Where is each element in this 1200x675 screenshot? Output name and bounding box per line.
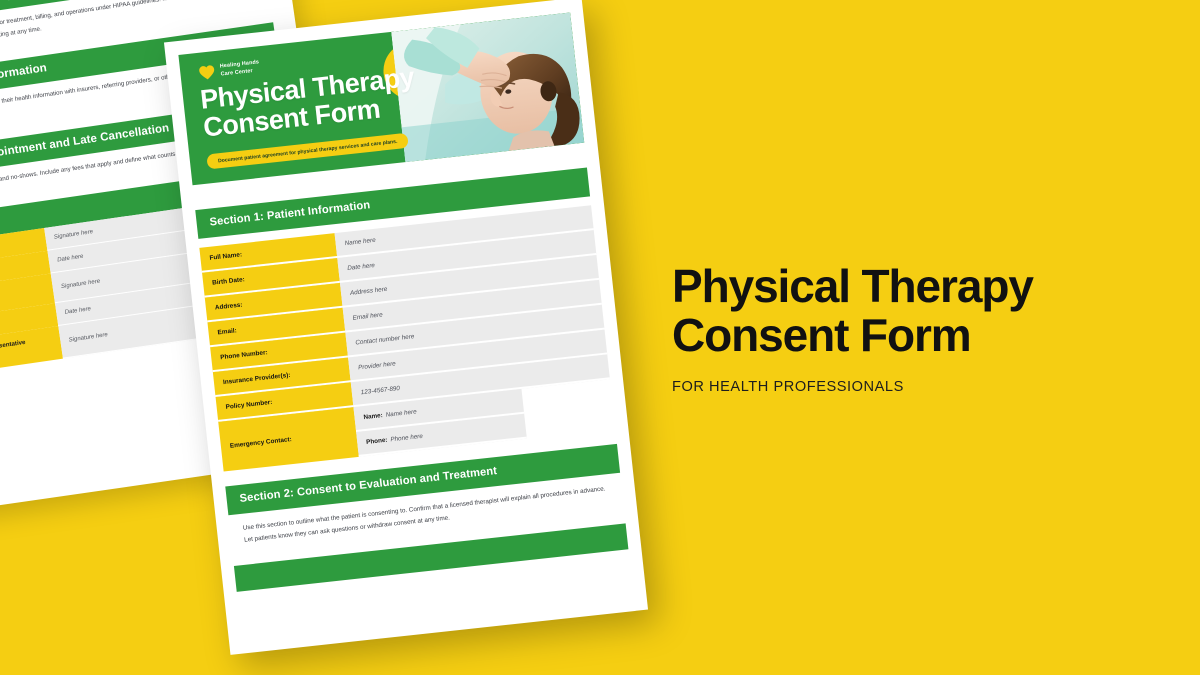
page-title: Physical Therapy Consent Form xyxy=(672,262,1142,360)
hero-photo xyxy=(391,12,584,162)
emergency-phone-key: Phone: xyxy=(366,437,388,446)
emergency-phone-text: Phone here xyxy=(390,433,423,443)
slide-title-panel: Physical Therapy Consent Form FOR HEALTH… xyxy=(672,262,1142,395)
patient-information-table: Full Name: Name here Birth Date: Date he… xyxy=(199,205,615,471)
heart-icon xyxy=(198,64,217,81)
front-document-page: Healing Hands Care Center Physical Thera… xyxy=(164,0,648,655)
page-subtitle: FOR HEALTH PROFESSIONALS xyxy=(672,379,1142,395)
presentation-slide: deductibles, and out-of-pocket fees. Be … xyxy=(0,0,1200,675)
therapy-photo-illustration xyxy=(391,12,584,162)
emergency-name-key: Name: xyxy=(363,412,383,421)
brand-logo: Healing Hands Care Center xyxy=(198,59,261,81)
signature-label: Physical Therapist or Clinic Representat… xyxy=(0,326,63,383)
logo-text: Healing Hands Care Center xyxy=(220,60,261,79)
emergency-name-text: Name here xyxy=(385,408,417,418)
